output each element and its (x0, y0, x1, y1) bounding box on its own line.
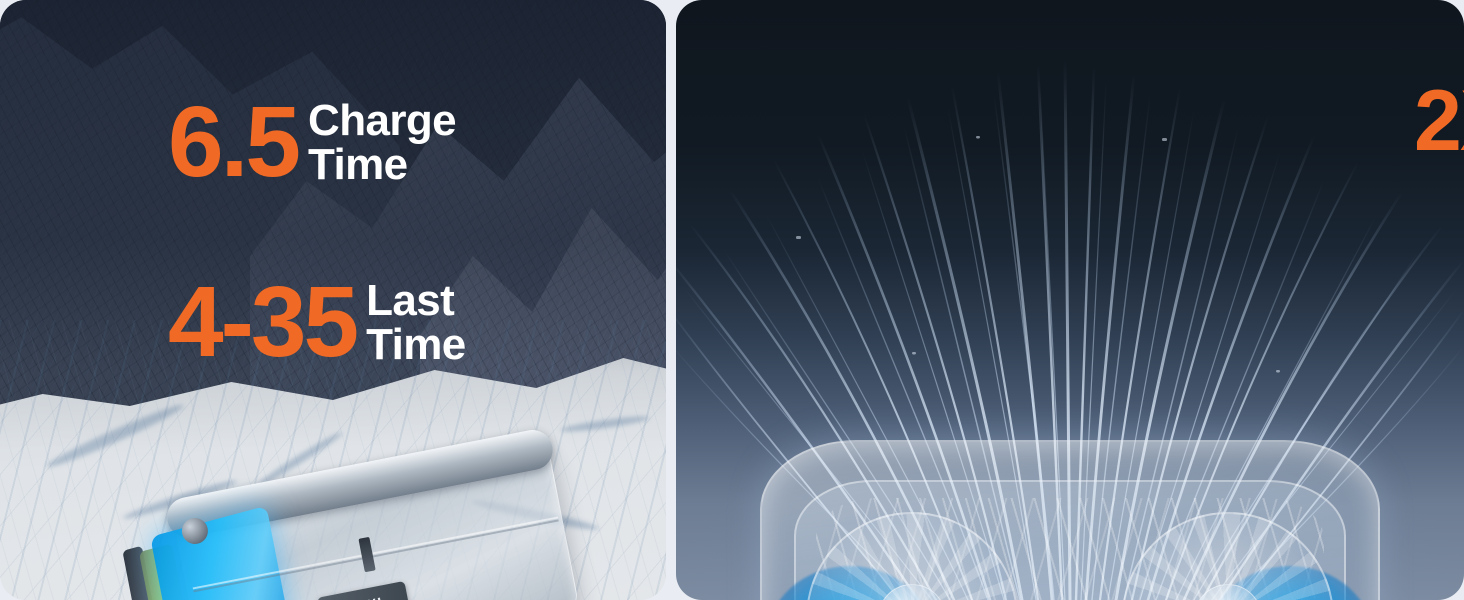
stat-cooling-outlet: 2X Cooling Outlet (1414, 82, 1464, 162)
stat-charge-time-label-line2: Time (308, 143, 456, 187)
fan-hub-left (878, 584, 946, 600)
stat-last-time: 4-35 Last Time (168, 276, 466, 368)
fan-hub-right (1194, 584, 1262, 600)
stat-cooling-outlet-number: 2X (1414, 82, 1464, 161)
stat-charge-time-label: Charge Time (308, 99, 456, 187)
cooling-performance-panel: 2X Cooling Outlet Max 26 ft/s (676, 0, 1464, 600)
stat-last-time-label-line1: Last (366, 279, 466, 323)
stat-last-time-number: 4-35 (168, 276, 356, 368)
stat-charge-time-number: 6.5 (168, 96, 298, 188)
stat-charge-time: 6.5 Charge Time (168, 96, 456, 188)
cooling-fan-module (760, 440, 1380, 600)
battery-performance-panel: KITWL 6.5 Charge Time 4-35 Last Time (0, 0, 666, 600)
stat-last-time-label: Last Time (366, 279, 466, 367)
stat-charge-time-label-line1: Charge (308, 99, 456, 143)
marketing-banner: KITWL 6.5 Charge Time 4-35 Last Time (0, 0, 1464, 600)
airflow-scene (676, 0, 1464, 600)
stat-last-time-label-line2: Time (366, 323, 466, 367)
